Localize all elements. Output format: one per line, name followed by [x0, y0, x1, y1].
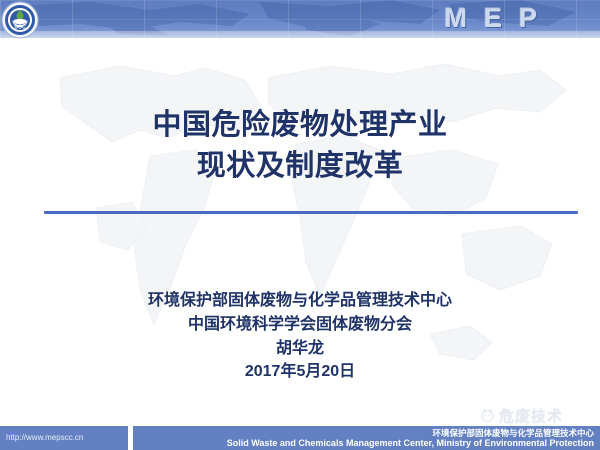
presentation-date: 2017年5月20日 — [0, 360, 600, 384]
header-bottom-sheen — [0, 31, 600, 38]
footer-center-name-en: Solid Waste and Chemicals Management Cen… — [227, 438, 594, 448]
scc-seal-logo: SCC — [1, 1, 39, 39]
watermark-text: 危废技术 — [499, 405, 563, 426]
slide-footer: http://www.mepscc.cn 环境保护部固体废物与化学品管理技术中心… — [0, 426, 600, 450]
footer-url-panel: http://www.mepscc.cn — [0, 426, 128, 450]
slide-header-banner: MEP — [0, 0, 600, 38]
corner-watermark: 危废技术 — [480, 404, 592, 426]
slide-title: 中国危险废物处理产业 现状及制度改革 — [0, 104, 600, 186]
title-line-2: 现状及制度改革 — [0, 145, 600, 186]
svg-text:SCC: SCC — [14, 25, 26, 31]
presenter-name: 胡华龙 — [0, 336, 600, 360]
title-divider-rule — [44, 211, 578, 214]
organization-name: 环境保护部固体废物与化学品管理技术中心 — [0, 288, 600, 312]
cat-face-icon — [480, 408, 495, 423]
subtitle-block: 环境保护部固体废物与化学品管理技术中心 中国环境科学学会固体废物分会 胡华龙 2… — [0, 288, 600, 384]
presentation-slide: MEP SCC 中国危险废物处理产业 现状及制度改革 环境保护部固体废物与化学品… — [0, 0, 600, 450]
society-name: 中国环境科学学会固体废物分会 — [0, 312, 600, 336]
mep-brand-text: MEP — [444, 3, 554, 34]
footer-website-url[interactable]: http://www.mepscc.cn — [6, 433, 83, 442]
title-line-1: 中国危险废物处理产业 — [0, 104, 600, 145]
footer-center-panel: 环境保护部固体废物与化学品管理技术中心 Solid Waste and Chem… — [133, 426, 600, 450]
